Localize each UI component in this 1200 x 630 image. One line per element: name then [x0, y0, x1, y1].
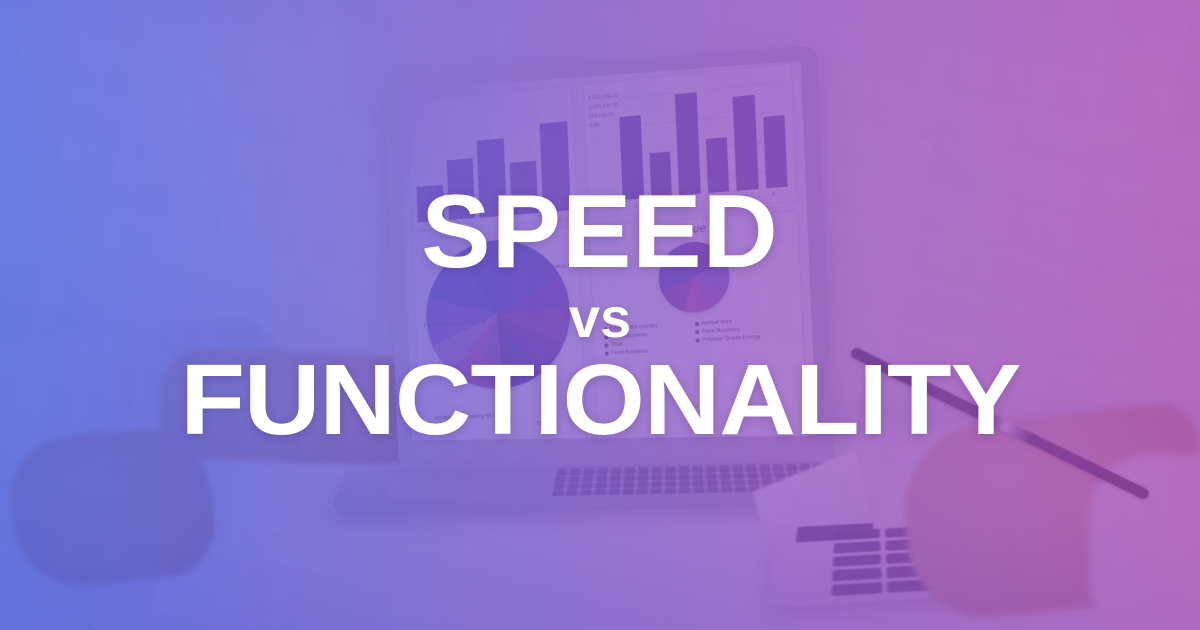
headline-block: SPEED vs FUNCTIONALITY [0, 0, 1200, 630]
headline-vs: vs [569, 290, 631, 346]
promo-banner: 1,500,000.00 1,000,000.00 500,000.00 0.0… [0, 0, 1200, 630]
headline-functionality: FUNCTIONALITY [180, 350, 1020, 450]
headline-speed: SPEED [421, 180, 779, 284]
